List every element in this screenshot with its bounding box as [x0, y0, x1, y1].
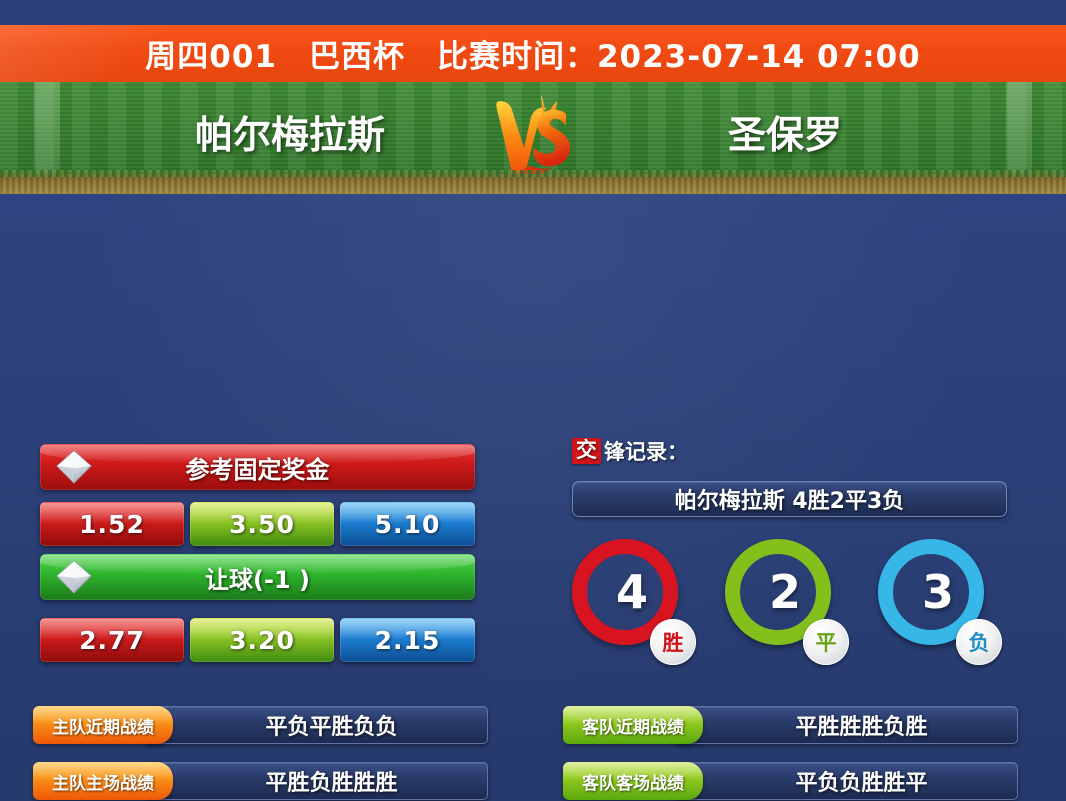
- home-venue-form-row: 平胜负胜胜胜 主队主场战绩: [33, 762, 488, 800]
- home-recent-form-tab[interactable]: 主队近期战绩: [33, 706, 173, 744]
- diamond-gem-icon: [54, 449, 94, 485]
- fixed-odd-away[interactable]: 5.10: [340, 502, 475, 546]
- page-title: 周四001 巴西杯 比赛时间：2023-07-14 07:00: [145, 31, 920, 76]
- away-recent-form-value: 平胜胜胜负胜: [675, 706, 1018, 744]
- home-venue-form-tab[interactable]: 主队主场战绩: [33, 762, 173, 800]
- h2h-ring-losses: 3 负: [878, 539, 998, 659]
- away-recent-form-row: 平胜胜胜负胜 客队近期战绩: [563, 706, 1018, 744]
- handicap-title-bar: 让球(-1 ): [40, 554, 475, 600]
- handicap-odd-away[interactable]: 2.15: [340, 618, 475, 662]
- h2h-summary-bar: 帕尔梅拉斯 4胜2平3负: [572, 481, 1007, 517]
- match-header-bar: 周四001 巴西杯 比赛时间：2023-07-14 07:00: [0, 25, 1066, 82]
- away-venue-form-row: 平负负胜胜平 客队客场战绩: [563, 762, 1018, 800]
- handicap-odd-draw[interactable]: 3.20: [190, 618, 334, 662]
- pitch-banner: 帕尔梅拉斯 圣保罗: [0, 82, 1066, 194]
- handicap-title: 让球(-1 ): [205, 560, 310, 595]
- fixed-odds-title-bar: 参考固定奖金: [40, 444, 475, 490]
- h2h-losses-badge: 负: [956, 619, 1002, 665]
- home-recent-form-row: 平负平胜负负 主队近期战绩: [33, 706, 488, 744]
- away-venue-form-tab[interactable]: 客队客场战绩: [563, 762, 703, 800]
- fixed-odd-home[interactable]: 1.52: [40, 502, 184, 546]
- home-team-name: 帕尔梅拉斯: [125, 104, 455, 159]
- home-venue-form-value: 平胜负胜胜胜: [145, 762, 488, 800]
- away-recent-form-tab[interactable]: 客队近期战绩: [563, 706, 703, 744]
- h2h-ring-wins: 4 胜: [572, 539, 692, 659]
- away-venue-form-value: 平负负胜胜平: [675, 762, 1018, 800]
- stats-panel: 参考固定奖金 1.52 3.50 5.10 让球(-1 ) 2.77 3.20 …: [0, 194, 1066, 801]
- away-team-name: 圣保罗: [620, 104, 950, 159]
- h2h-ring-draws: 2 平: [725, 539, 845, 659]
- h2h-label-text: 锋记录：: [604, 436, 688, 466]
- h2h-section-label: 交 锋记录：: [572, 436, 688, 466]
- h2h-wins-badge: 胜: [650, 619, 696, 665]
- diamond-gem-icon: [54, 559, 94, 595]
- h2h-label-badge: 交: [572, 438, 601, 463]
- pitch-stripe-right: [1006, 82, 1032, 174]
- fixed-odd-draw[interactable]: 3.50: [190, 502, 334, 546]
- home-recent-form-value: 平负平胜负负: [145, 706, 488, 744]
- fixed-odds-title: 参考固定奖金: [186, 450, 330, 485]
- h2h-draws-badge: 平: [803, 619, 849, 665]
- pitch-dirt-strip: [0, 174, 1066, 194]
- handicap-odd-home[interactable]: 2.77: [40, 618, 184, 662]
- pitch-stripe-left: [34, 82, 60, 174]
